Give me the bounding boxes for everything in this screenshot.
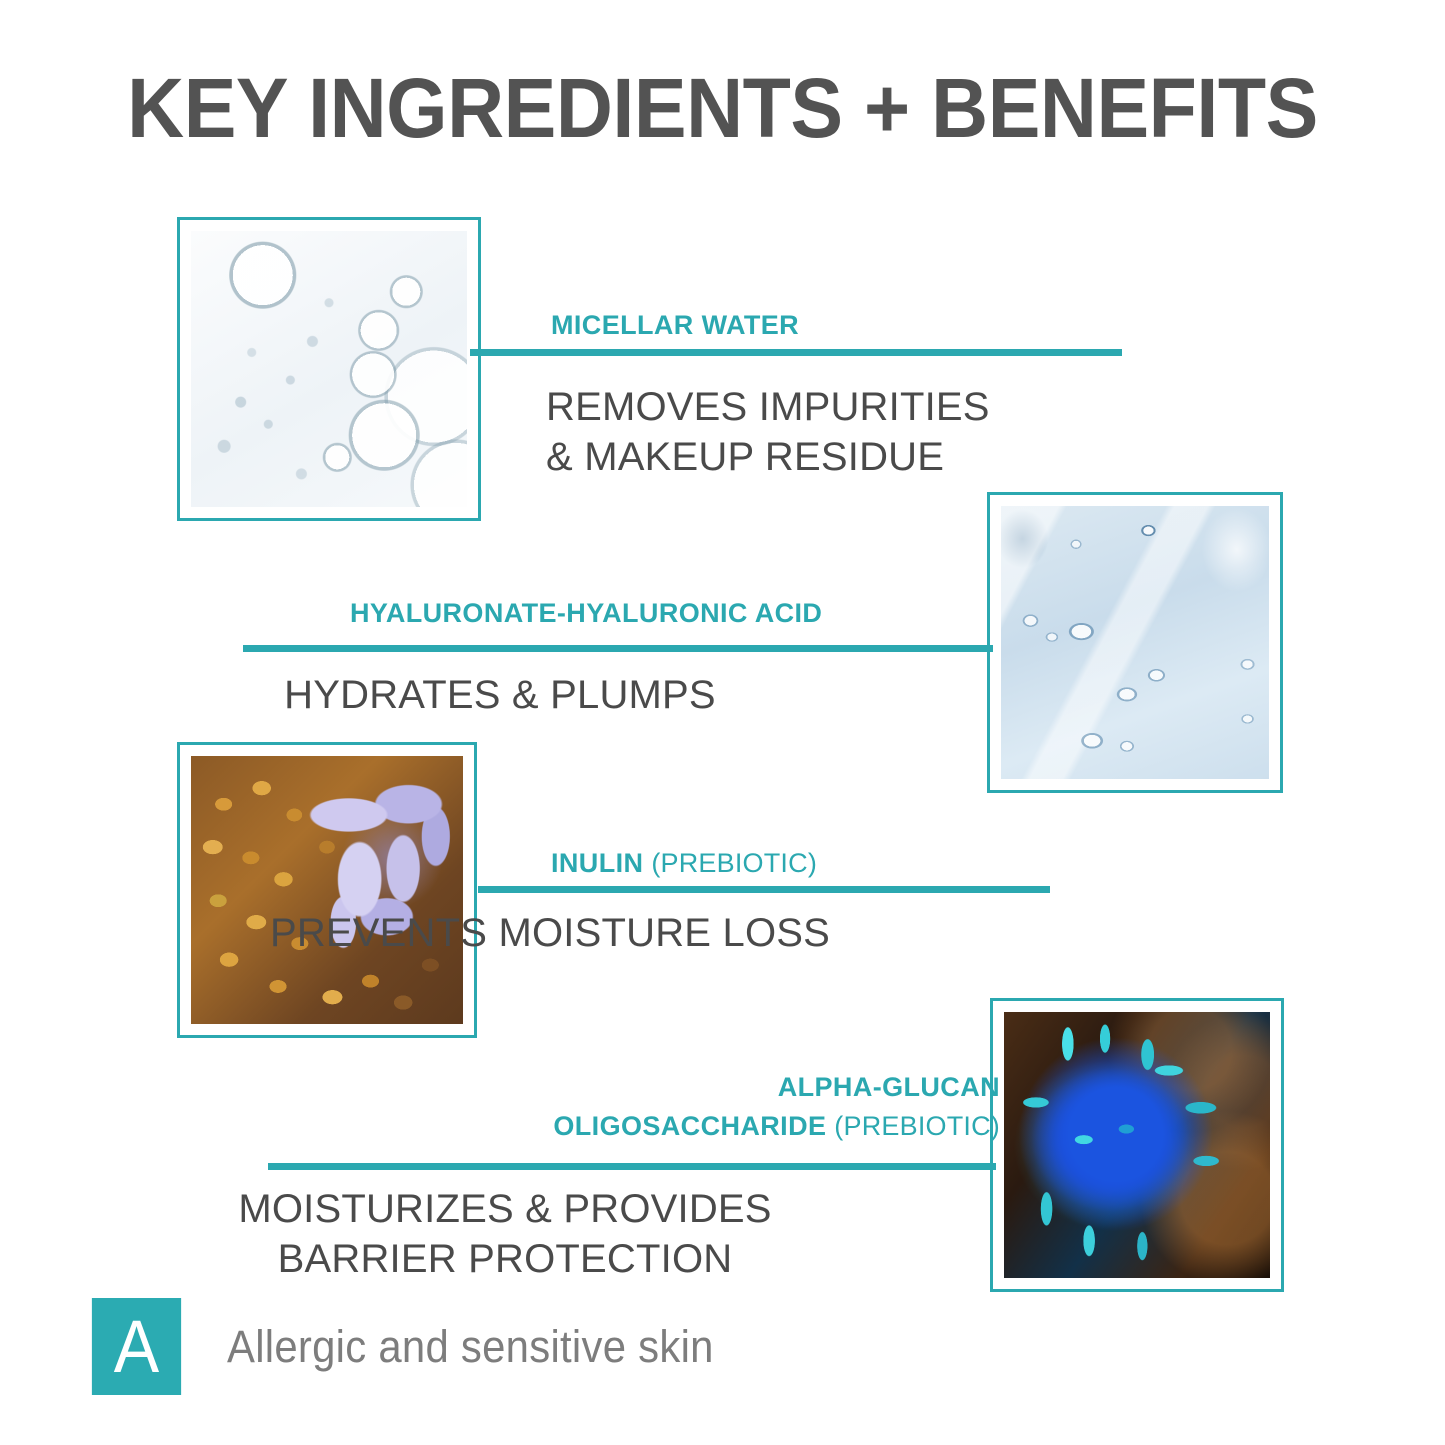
ingredient-name-alpha-glucan-oligosaccharide: ALPHA-GLUCAN OLIGOSACCHARIDE (PREBIOTIC) xyxy=(0,1068,1000,1146)
chicory-root-photo xyxy=(191,756,463,1024)
ingredient-qualifier: (PREBIOTIC) xyxy=(834,1111,1000,1141)
ingredient-benefit-hyaluronate-hyaluronic-acid: HYDRATES & PLUMPS xyxy=(0,670,1000,720)
benefit-line: REMOVES IMPURITIES xyxy=(546,382,990,432)
connector-rule-alpha-glucan-oligosaccharide xyxy=(268,1163,996,1170)
micellar-water-photo xyxy=(191,231,467,507)
ingredient-name-inulin: INULIN (PREBIOTIC) xyxy=(551,845,817,882)
ingredient-benefit-alpha-glucan-oligosaccharide: MOISTURIZES & PROVIDES BARRIER PROTECTIO… xyxy=(0,1184,1010,1284)
benefit-line: & MAKEUP RESIDUE xyxy=(546,432,990,482)
footer: A Allergic and sensitive skin xyxy=(88,1298,750,1395)
brand-logo: A xyxy=(92,1298,181,1395)
ingredient-benefit-micellar-water: REMOVES IMPURITIES & MAKEUP RESIDUE xyxy=(546,382,990,482)
benefit-line: PREVENTS MOISTURE LOSS xyxy=(0,908,1100,958)
microbiome-bacteria-photo xyxy=(1004,1012,1270,1278)
page-title: KEY INGREDIENTS + BENEFITS xyxy=(43,62,1401,154)
ingredient-name-micellar-water: MICELLAR WATER xyxy=(551,307,799,344)
ingredient-benefit-inulin: PREVENTS MOISTURE LOSS xyxy=(0,908,1100,958)
connector-rule-hyaluronate-hyaluronic-acid xyxy=(243,645,993,652)
benefit-line: MOISTURIZES & PROVIDES xyxy=(0,1184,1010,1234)
benefit-line: BARRIER PROTECTION xyxy=(0,1234,1010,1284)
ingredient-name-line-2: OLIGOSACCHARIDE xyxy=(553,1111,826,1141)
ingredient-image-micellar-water xyxy=(177,217,481,521)
connector-rule-inulin xyxy=(478,886,1050,893)
ingredient-image-alpha-glucan-oligosaccharide xyxy=(990,998,1284,1292)
ingredient-qualifier: (PREBIOTIC) xyxy=(651,848,817,878)
connector-rule-micellar-water xyxy=(470,349,1122,356)
ingredient-name-hyaluronate-hyaluronic-acid: HYALURONATE-HYALURONIC ACID xyxy=(350,595,822,632)
ingredient-name-line-1: ALPHA-GLUCAN xyxy=(0,1068,1000,1107)
ingredient-name-line-2-wrap: OLIGOSACCHARIDE (PREBIOTIC) xyxy=(0,1107,1000,1146)
footer-tagline: Allergic and sensitive skin xyxy=(227,1322,714,1372)
ingredient-name-text: INULIN xyxy=(551,848,643,878)
benefit-line: HYDRATES & PLUMPS xyxy=(0,670,1000,720)
hyaluronic-acid-gel-photo xyxy=(1001,506,1269,779)
ingredient-image-hyaluronate-hyaluronic-acid xyxy=(987,492,1283,793)
ingredient-image-inulin xyxy=(177,742,477,1038)
